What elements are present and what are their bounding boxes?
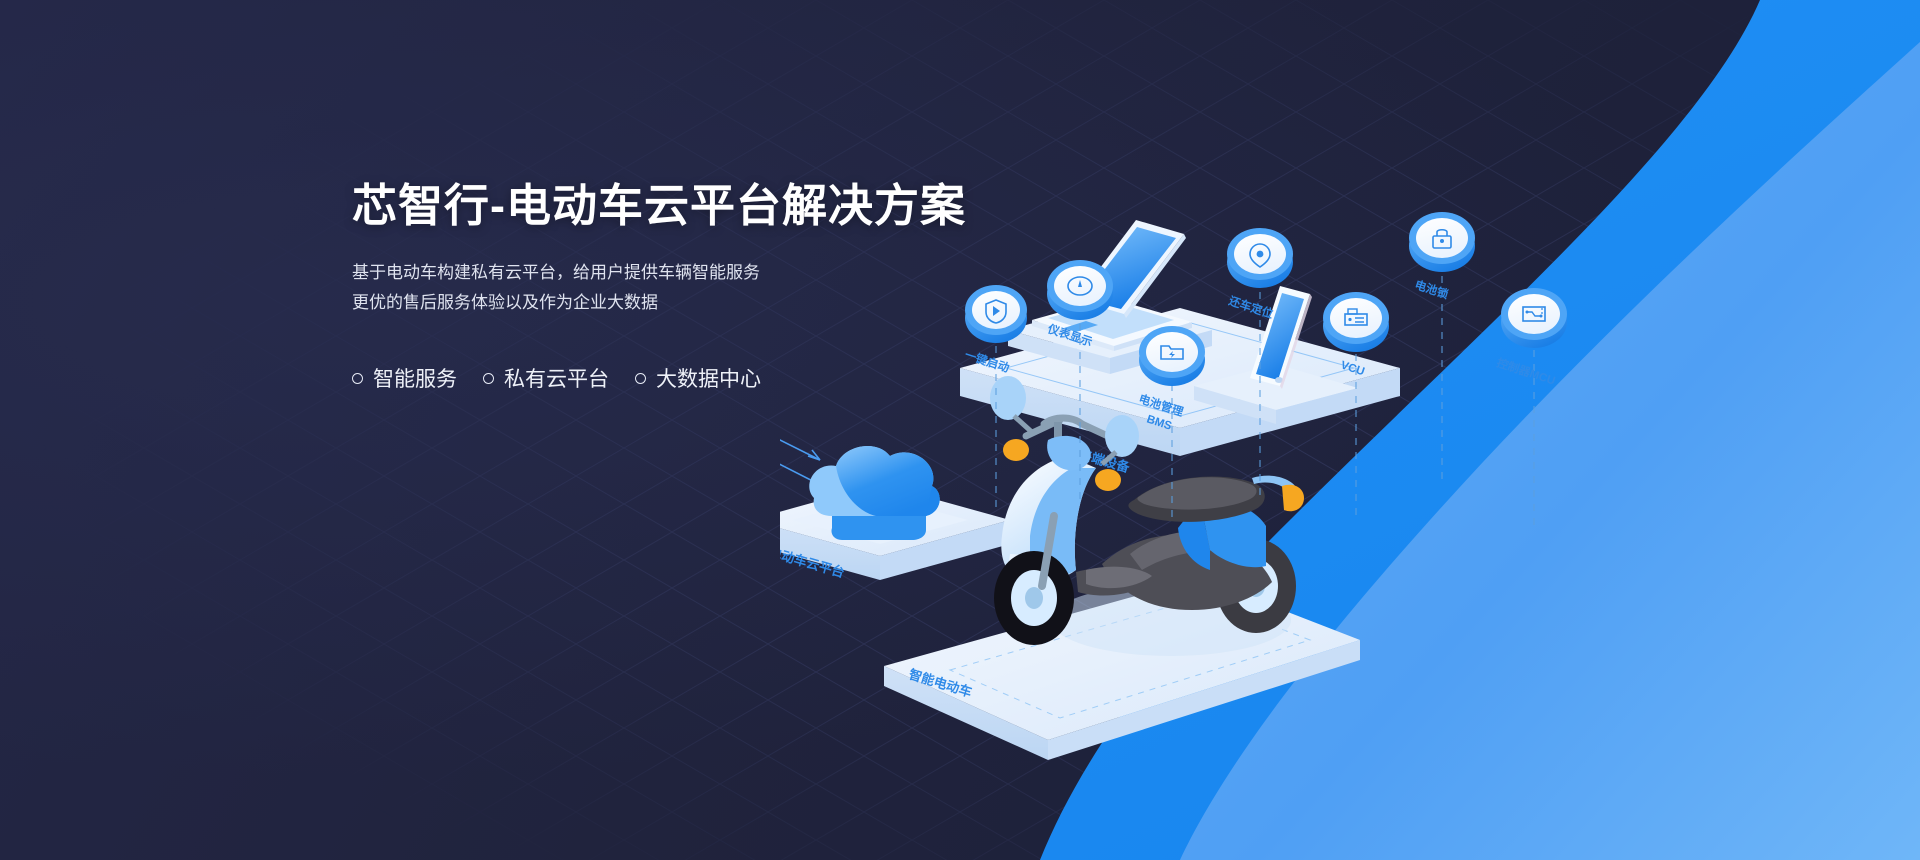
circle-outline-icon <box>352 373 363 384</box>
feature-item-big-data-center: 大数据中心 <box>635 363 761 393</box>
badge-label: 还车定位 <box>1226 293 1276 321</box>
badge-label: 控制器MCU <box>1495 356 1557 388</box>
double-arrow-icon <box>780 400 820 460</box>
badge-battery-lock[interactable]: 电池锁 <box>1409 212 1475 302</box>
circle-outline-icon <box>635 373 646 384</box>
hero-banner: 芯智行-电动车云平台解决方案 基于电动车构建私有云平台，给用户提供车辆智能服务 … <box>0 0 1920 860</box>
feature-label: 私有云平台 <box>504 363 609 393</box>
badge-controller-mcu[interactable]: 控制器MCU <box>1495 288 1567 388</box>
circle-outline-icon <box>483 373 494 384</box>
feature-label: 智能服务 <box>373 363 457 393</box>
platform-cloud: 电动车云平台 <box>780 446 1010 580</box>
feature-label: 大数据中心 <box>656 363 761 393</box>
platform-vehicle: 智能电动车 <box>884 376 1360 760</box>
isometric-illustration: 终端设备 电动车云平台 <box>780 200 1920 860</box>
feature-item-smart-service: 智能服务 <box>352 363 457 393</box>
badge-label: 电池锁 <box>1413 278 1451 302</box>
feature-item-private-cloud: 私有云平台 <box>483 363 609 393</box>
